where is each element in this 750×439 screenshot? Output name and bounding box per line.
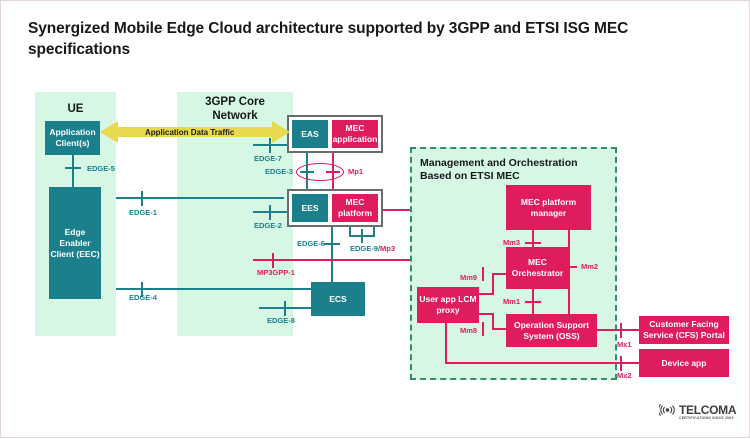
diagram-page: Synergized Mobile Edge Cloud architectur…: [0, 0, 750, 438]
cfs-portal-box[interactable]: Customer Facing Service (CFS) Portal: [639, 316, 729, 344]
label-mp3: Mp3: [380, 244, 395, 253]
architecture-diagram: UE 3GPP Core Network EDGE-5 EDGE-1 EDGE-…: [1, 1, 750, 439]
tick-mx2: [620, 356, 622, 371]
label-edge6: EDGE-6: [297, 239, 325, 248]
mec-application-box[interactable]: MEC application: [332, 120, 378, 148]
logo-wordmark: TELCOMA: [679, 404, 736, 416]
ecs-label: ECS: [329, 294, 346, 305]
oss-label-2: System (OSS): [523, 331, 579, 342]
mec-application-label-2: application: [333, 134, 378, 145]
mec-platform-manager-label-1: MEC platform: [521, 197, 576, 208]
mec-platform-label-2: platform: [338, 208, 372, 219]
label-mp3gpp1: MP3GPP-1: [257, 268, 295, 277]
cfs-portal-label-1: Customer Facing: [649, 319, 718, 330]
eec-label-2: Enabler: [59, 238, 90, 249]
device-app-label: Device app: [662, 358, 707, 369]
line-edge4: [116, 288, 312, 290]
tick-mm3: [525, 242, 541, 244]
oss-label-1: Operation Support: [514, 320, 589, 331]
tick-edge5: [65, 167, 81, 169]
mec-application-label-1: MEC: [346, 123, 365, 134]
label-edge3: EDGE-3: [265, 167, 293, 176]
label-mx2: Mx2: [617, 371, 632, 380]
label-mm3: Mm3: [503, 238, 520, 247]
label-edge7: EDGE-7: [254, 154, 282, 163]
tick-mp1: [326, 171, 340, 173]
label-mm9: Mm9: [460, 273, 477, 282]
mgmt-title-line1: Management and Orchestration: [420, 157, 578, 171]
tick-edge8: [284, 301, 286, 316]
mec-orchestrator-label-2: Orchestrator: [512, 268, 564, 279]
user-app-lcm-proxy-box[interactable]: User app LCM proxy: [417, 287, 479, 323]
application-data-traffic-label: Application Data Traffic: [145, 128, 234, 137]
mec-platform-manager-label-2: manager: [531, 208, 566, 219]
label-edge5: EDGE-5: [87, 164, 115, 173]
application-client-label-2: Client(s): [56, 138, 90, 149]
label-edge9-mp3: EDGE-9/Mp3: [350, 244, 395, 253]
signal-waves-icon: [659, 404, 676, 416]
application-client-label-1: Application: [49, 127, 95, 138]
eec-label-3: Client (EEC): [50, 249, 99, 260]
mec-platform-label-1: MEC: [346, 197, 365, 208]
cfs-portal-label-2: Service (CFS) Portal: [643, 330, 725, 341]
label-edge1: EDGE-1: [129, 208, 157, 217]
eas-label: EAS: [301, 129, 318, 140]
oss-box[interactable]: Operation Support System (OSS): [506, 314, 597, 347]
label-mm8: Mm8: [460, 326, 477, 335]
tick-mm1: [525, 301, 541, 303]
eas-box[interactable]: EAS: [292, 120, 328, 148]
line-edge2: [253, 211, 289, 213]
eec-label-1: Edge: [65, 227, 86, 238]
mec-platform-manager-box[interactable]: MEC platform manager: [506, 185, 591, 230]
label-mp1: Mp1: [348, 167, 363, 176]
tick-mx1: [620, 323, 622, 338]
label-edge4: EDGE-4: [129, 293, 157, 302]
line-mx2-horz: [445, 362, 642, 364]
edge-enabler-client-box[interactable]: Edge Enabler Client (EEC): [49, 187, 101, 299]
ees-label: EES: [301, 203, 318, 214]
line-edge5: [72, 149, 74, 189]
line-mm1: [532, 289, 534, 317]
line-edge9-vert-left: [349, 227, 351, 237]
tick-edge9: [361, 229, 363, 243]
tick-edge6: [324, 243, 340, 245]
mec-orchestrator-label-1: MEC: [528, 257, 547, 268]
label-edge2: EDGE-2: [254, 221, 282, 230]
line-edge8: [259, 307, 313, 309]
tick-edge3: [300, 171, 314, 173]
mgmt-title-line2: Based on ETSI MEC: [420, 170, 520, 184]
logo-tagline: CERTIFICATIONS SINCE 2009: [679, 416, 734, 420]
user-app-lcm-proxy-label-1: User app LCM: [419, 294, 476, 305]
tick-mp3gpp1: [272, 253, 274, 268]
label-edge9: EDGE-9: [350, 244, 378, 253]
tick-edge2: [269, 205, 271, 220]
mec-platform-box[interactable]: MEC platform: [332, 194, 378, 222]
label-mm2: Mm2: [581, 262, 598, 271]
tick-mm8: [482, 322, 484, 336]
tick-edge1: [141, 191, 143, 206]
ecs-box[interactable]: ECS: [311, 282, 365, 316]
core-network-panel-label-line1: 3GPP Core: [177, 95, 293, 109]
telcoma-logo: TELCOMA CERTIFICATIONS SINCE 2009: [659, 404, 736, 416]
line-edge6: [331, 227, 333, 289]
label-mx1: Mx1: [617, 340, 632, 349]
application-client-box[interactable]: Application Client(s): [45, 121, 100, 155]
mec-orchestrator-box[interactable]: MEC Orchestrator: [506, 247, 569, 289]
label-mm1: Mm1: [503, 297, 520, 306]
line-mm9-vert: [492, 273, 494, 295]
ees-box[interactable]: EES: [292, 194, 328, 222]
tick-mm9: [482, 267, 484, 281]
line-mx2-vert: [445, 321, 447, 364]
user-app-lcm-proxy-label-2: proxy: [436, 305, 459, 316]
ue-panel-label: UE: [35, 102, 116, 116]
line-mm9-horz-top: [492, 273, 507, 275]
device-app-box[interactable]: Device app: [639, 349, 729, 377]
label-edge8: EDGE-8: [267, 316, 295, 325]
